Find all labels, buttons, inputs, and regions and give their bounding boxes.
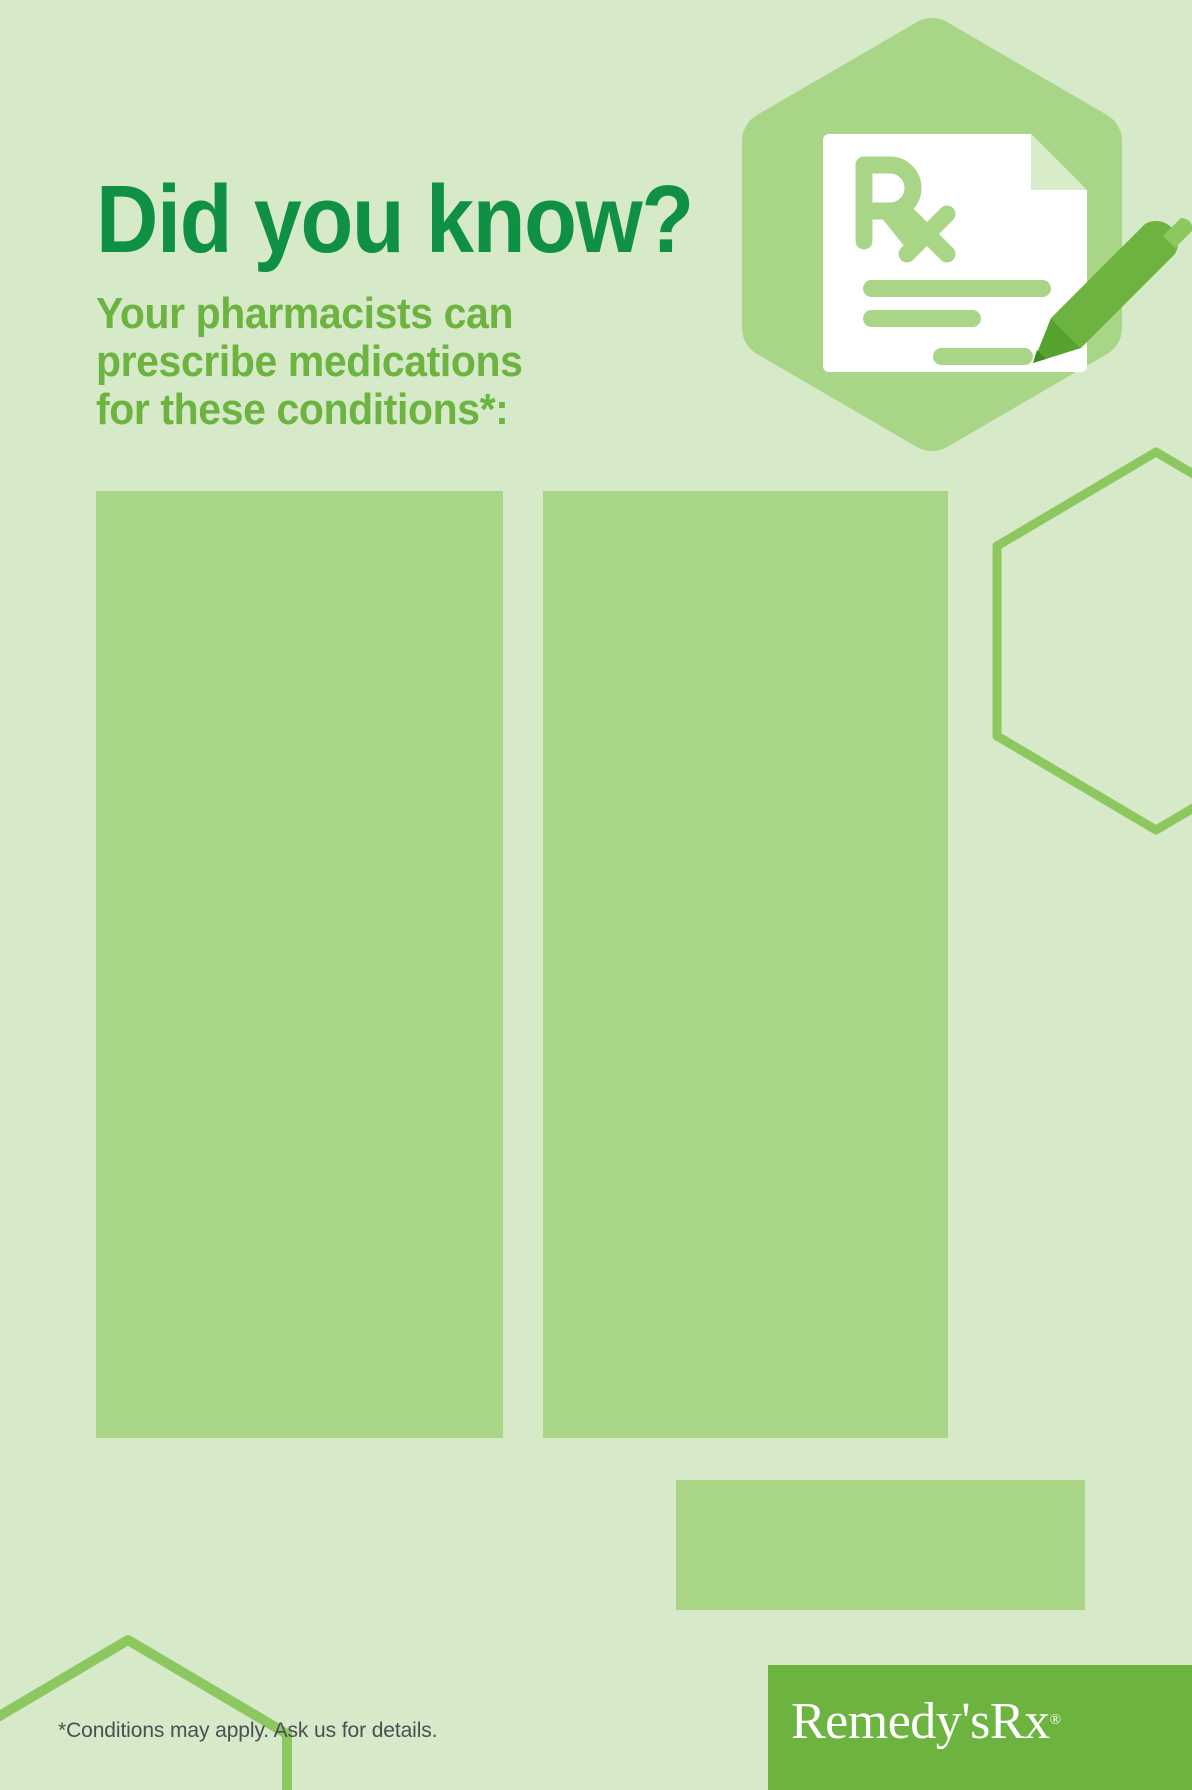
footnote-disclaimer: *Conditions may apply. Ask us for detail…: [58, 1718, 437, 1744]
registered-trademark-icon: ®: [1050, 1712, 1061, 1728]
outline-hexagon-bottom-left-icon: [0, 1640, 287, 1790]
page-title: Did you know?: [96, 172, 693, 268]
brand-logo-block: Remedy'sRx®: [768, 1665, 1192, 1790]
page-subtitle: Your pharmacists can prescribe medicatio…: [96, 290, 523, 434]
document-line-2: [863, 310, 981, 327]
subtitle-line-3: for these conditions*:: [96, 386, 523, 434]
brand-wordmark: Remedy'sRx®: [791, 1692, 1061, 1750]
subtitle-line-1: Your pharmacists can: [96, 290, 523, 338]
document-line-1: [863, 280, 1051, 297]
subtitle-line-2: prescribe medications: [96, 338, 523, 386]
outline-hexagon-right-icon: [997, 452, 1192, 830]
document-signature-line: [933, 348, 1033, 365]
conditions-panel-left: [96, 491, 503, 1438]
rx-badge: [735, 8, 1192, 468]
accent-block-above-logo: [676, 1480, 1085, 1610]
brand-name: Remedy'sRx: [791, 1693, 1050, 1750]
conditions-panel-right: [543, 491, 948, 1438]
